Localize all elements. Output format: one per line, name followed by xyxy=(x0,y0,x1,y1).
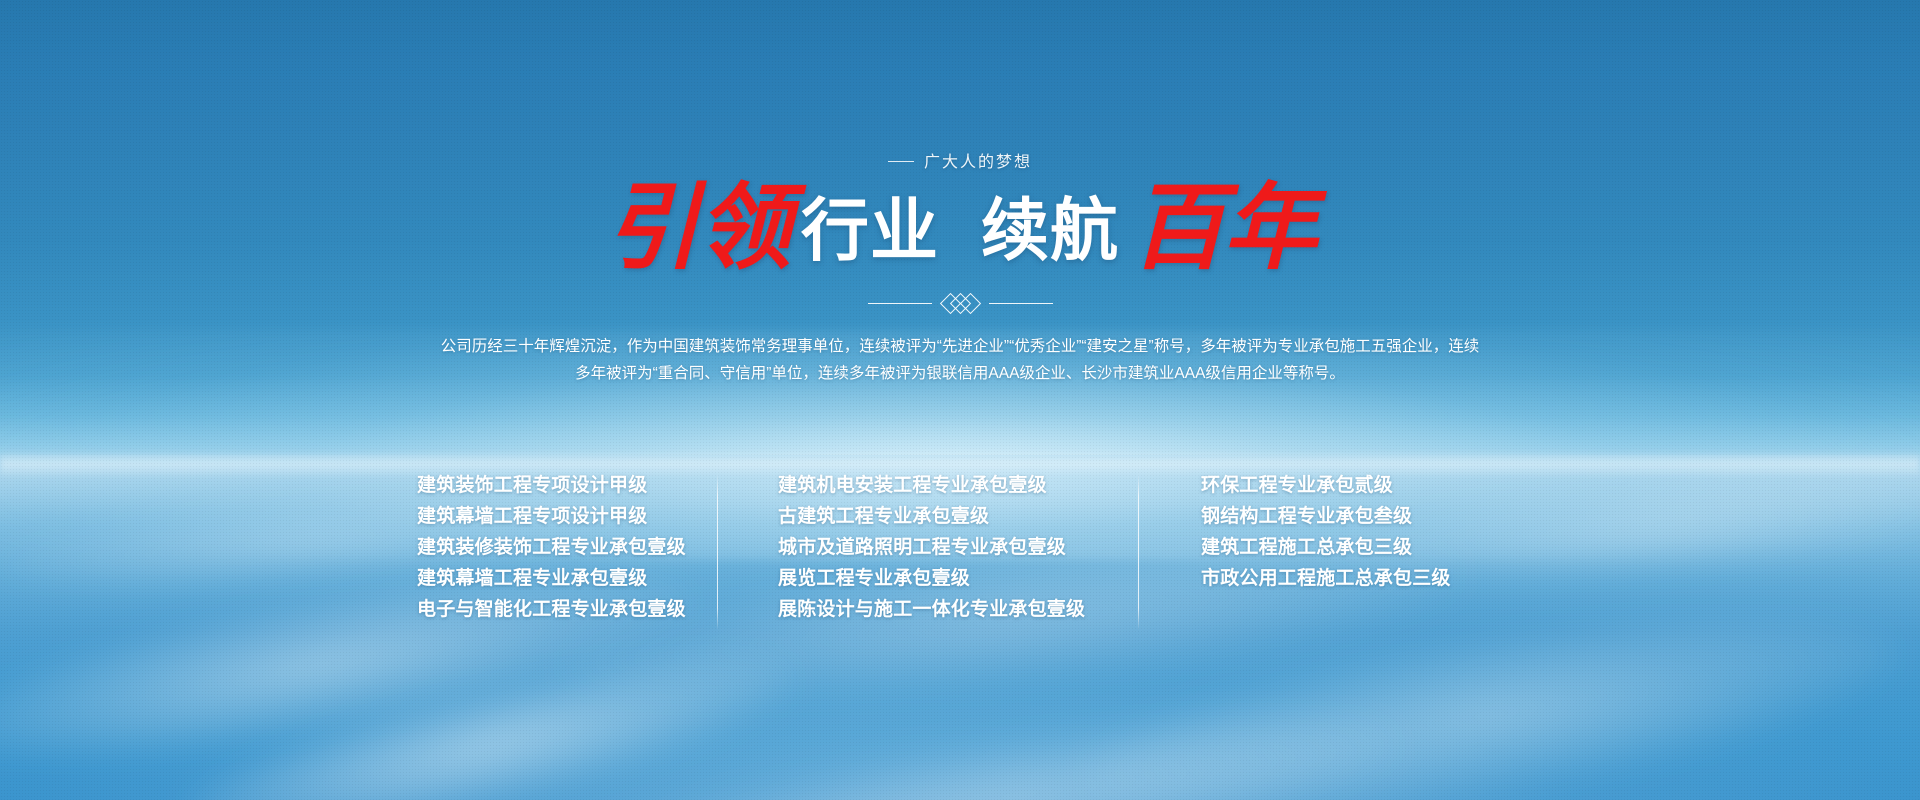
diamond-divider xyxy=(0,296,1920,311)
qualification-column-1: 建筑装饰工程专项设计甲级 建筑幕墙工程专项设计甲级 建筑装修装饰工程专业承包壹级… xyxy=(399,470,717,625)
divider-rule-left xyxy=(868,303,932,304)
company-description: 公司历经三十年辉煌沉淀，作为中国建筑装饰常务理事单位，连续被评为“先进企业”“优… xyxy=(405,333,1515,387)
hero-banner: 广大人的梦想 引领行业续航百年 公司历经三十年辉煌沉淀，作为中国建筑装饰常务理事… xyxy=(0,0,1920,800)
eyebrow-text: 广大人的梦想 xyxy=(924,154,1032,171)
divider-diamond-group xyxy=(943,296,978,311)
qualification-item: 古建筑工程专业承包壹级 xyxy=(778,501,1138,532)
headline-solid-endurance: 续航 xyxy=(981,193,1119,269)
page-title: 引领行业续航百年 xyxy=(0,175,1920,269)
qualification-item: 展陈设计与施工一体化专业承包壹级 xyxy=(778,594,1138,625)
qualification-column-2: 建筑机电安装工程专业承包壹级 古建筑工程专业承包壹级 城市及道路照明工程专业承包… xyxy=(718,470,1138,625)
qualification-item: 环保工程专业承包贰级 xyxy=(1201,470,1521,501)
qualification-column-3: 环保工程专业承包贰级 钢结构工程专业承包叁级 建筑工程施工总承包三级 市政公用工… xyxy=(1139,470,1521,594)
qualification-item: 建筑装修装饰工程专业承包壹级 xyxy=(417,532,717,563)
qualification-columns: 建筑装饰工程专项设计甲级 建筑幕墙工程专项设计甲级 建筑装修装饰工程专业承包壹级… xyxy=(399,470,1521,630)
qualification-item: 电子与智能化工程专业承包壹级 xyxy=(417,594,717,625)
headline-brush-century: 百年 xyxy=(1131,173,1315,283)
qualification-item: 市政公用工程施工总承包三级 xyxy=(1201,563,1521,594)
description-line-1: 公司历经三十年辉煌沉淀，作为中国建筑装饰常务理事单位，连续被评为“先进企业”“优… xyxy=(405,333,1515,360)
qualification-item: 建筑装饰工程专项设计甲级 xyxy=(417,470,717,501)
qualification-item: 建筑工程施工总承包三级 xyxy=(1201,532,1521,563)
description-line-2: 多年被评为“重合同、守信用”单位，连续多年被评为银联信用AAA级企业、长沙市建筑… xyxy=(405,360,1515,387)
qualification-item: 建筑幕墙工程专项设计甲级 xyxy=(417,501,717,532)
qualification-item: 建筑幕墙工程专业承包壹级 xyxy=(417,563,717,594)
headline-solid-industry: 行业 xyxy=(801,193,939,269)
eyebrow-dash-icon xyxy=(888,161,914,162)
banner-content: 广大人的梦想 引领行业续航百年 公司历经三十年辉煌沉淀，作为中国建筑装饰常务理事… xyxy=(0,0,1920,800)
qualification-item: 钢结构工程专业承包叁级 xyxy=(1201,501,1521,532)
headline-brush-lead: 引领 xyxy=(605,173,789,283)
qualification-item: 城市及道路照明工程专业承包壹级 xyxy=(778,532,1138,563)
qualification-item: 建筑机电安装工程专业承包壹级 xyxy=(778,470,1138,501)
eyebrow-tagline: 广大人的梦想 xyxy=(0,148,1920,172)
qualification-item: 展览工程专业承包壹级 xyxy=(778,563,1138,594)
divider-rule-right xyxy=(989,303,1053,304)
